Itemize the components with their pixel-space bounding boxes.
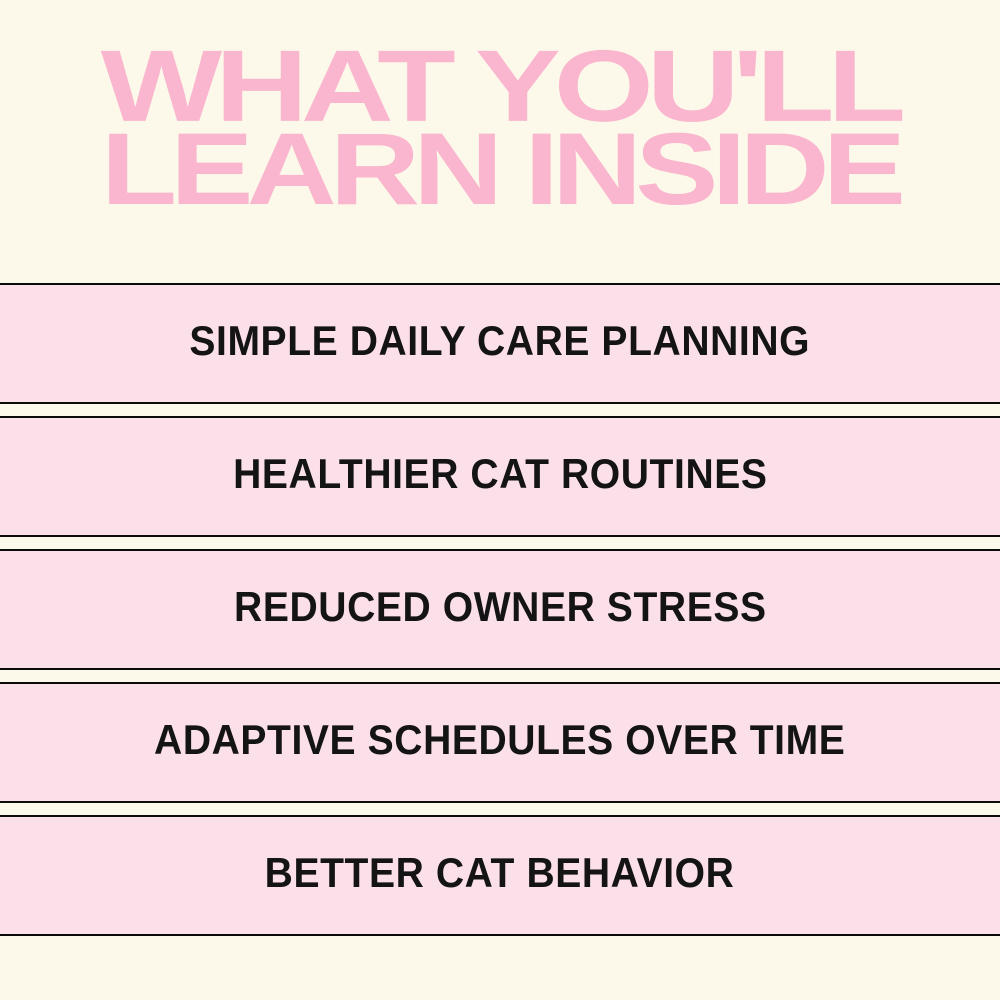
benefit-label: BETTER CAT BEHAVIOR [265,849,735,897]
benefit-row: BETTER CAT BEHAVIOR [0,815,1000,936]
benefit-row: REDUCED OWNER STRESS [0,549,1000,670]
benefit-label: HEALTHIER CAT ROUTINES [233,450,767,498]
benefit-row: HEALTHIER CAT ROUTINES [0,416,1000,537]
benefit-label: ADAPTIVE SCHEDULES OVER TIME [154,716,845,764]
poster-canvas: WHAT YOU'LL LEARN INSIDE SIMPLE DAILY CA… [0,0,1000,1000]
poster-title: WHAT YOU'LL LEARN INSIDE [0,48,1000,244]
benefits-list: SIMPLE DAILY CARE PLANNING HEALTHIER CAT… [0,283,1000,936]
benefit-row: ADAPTIVE SCHEDULES OVER TIME [0,682,1000,803]
benefit-label: REDUCED OWNER STRESS [234,583,767,631]
benefit-row: SIMPLE DAILY CARE PLANNING [0,283,1000,404]
benefit-label: SIMPLE DAILY CARE PLANNING [190,317,811,365]
title-line-two: LEARN INSIDE [101,128,899,211]
